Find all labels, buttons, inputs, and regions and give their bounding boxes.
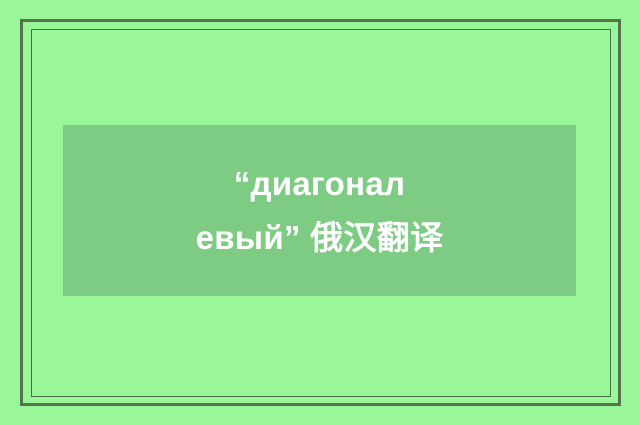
poster-canvas: “диагонал евый” 俄汉翻译 [0, 0, 640, 425]
headline-panel: “диагонал евый” 俄汉翻译 [63, 125, 576, 296]
page-title: “диагонал евый” 俄汉翻译 [63, 157, 576, 264]
